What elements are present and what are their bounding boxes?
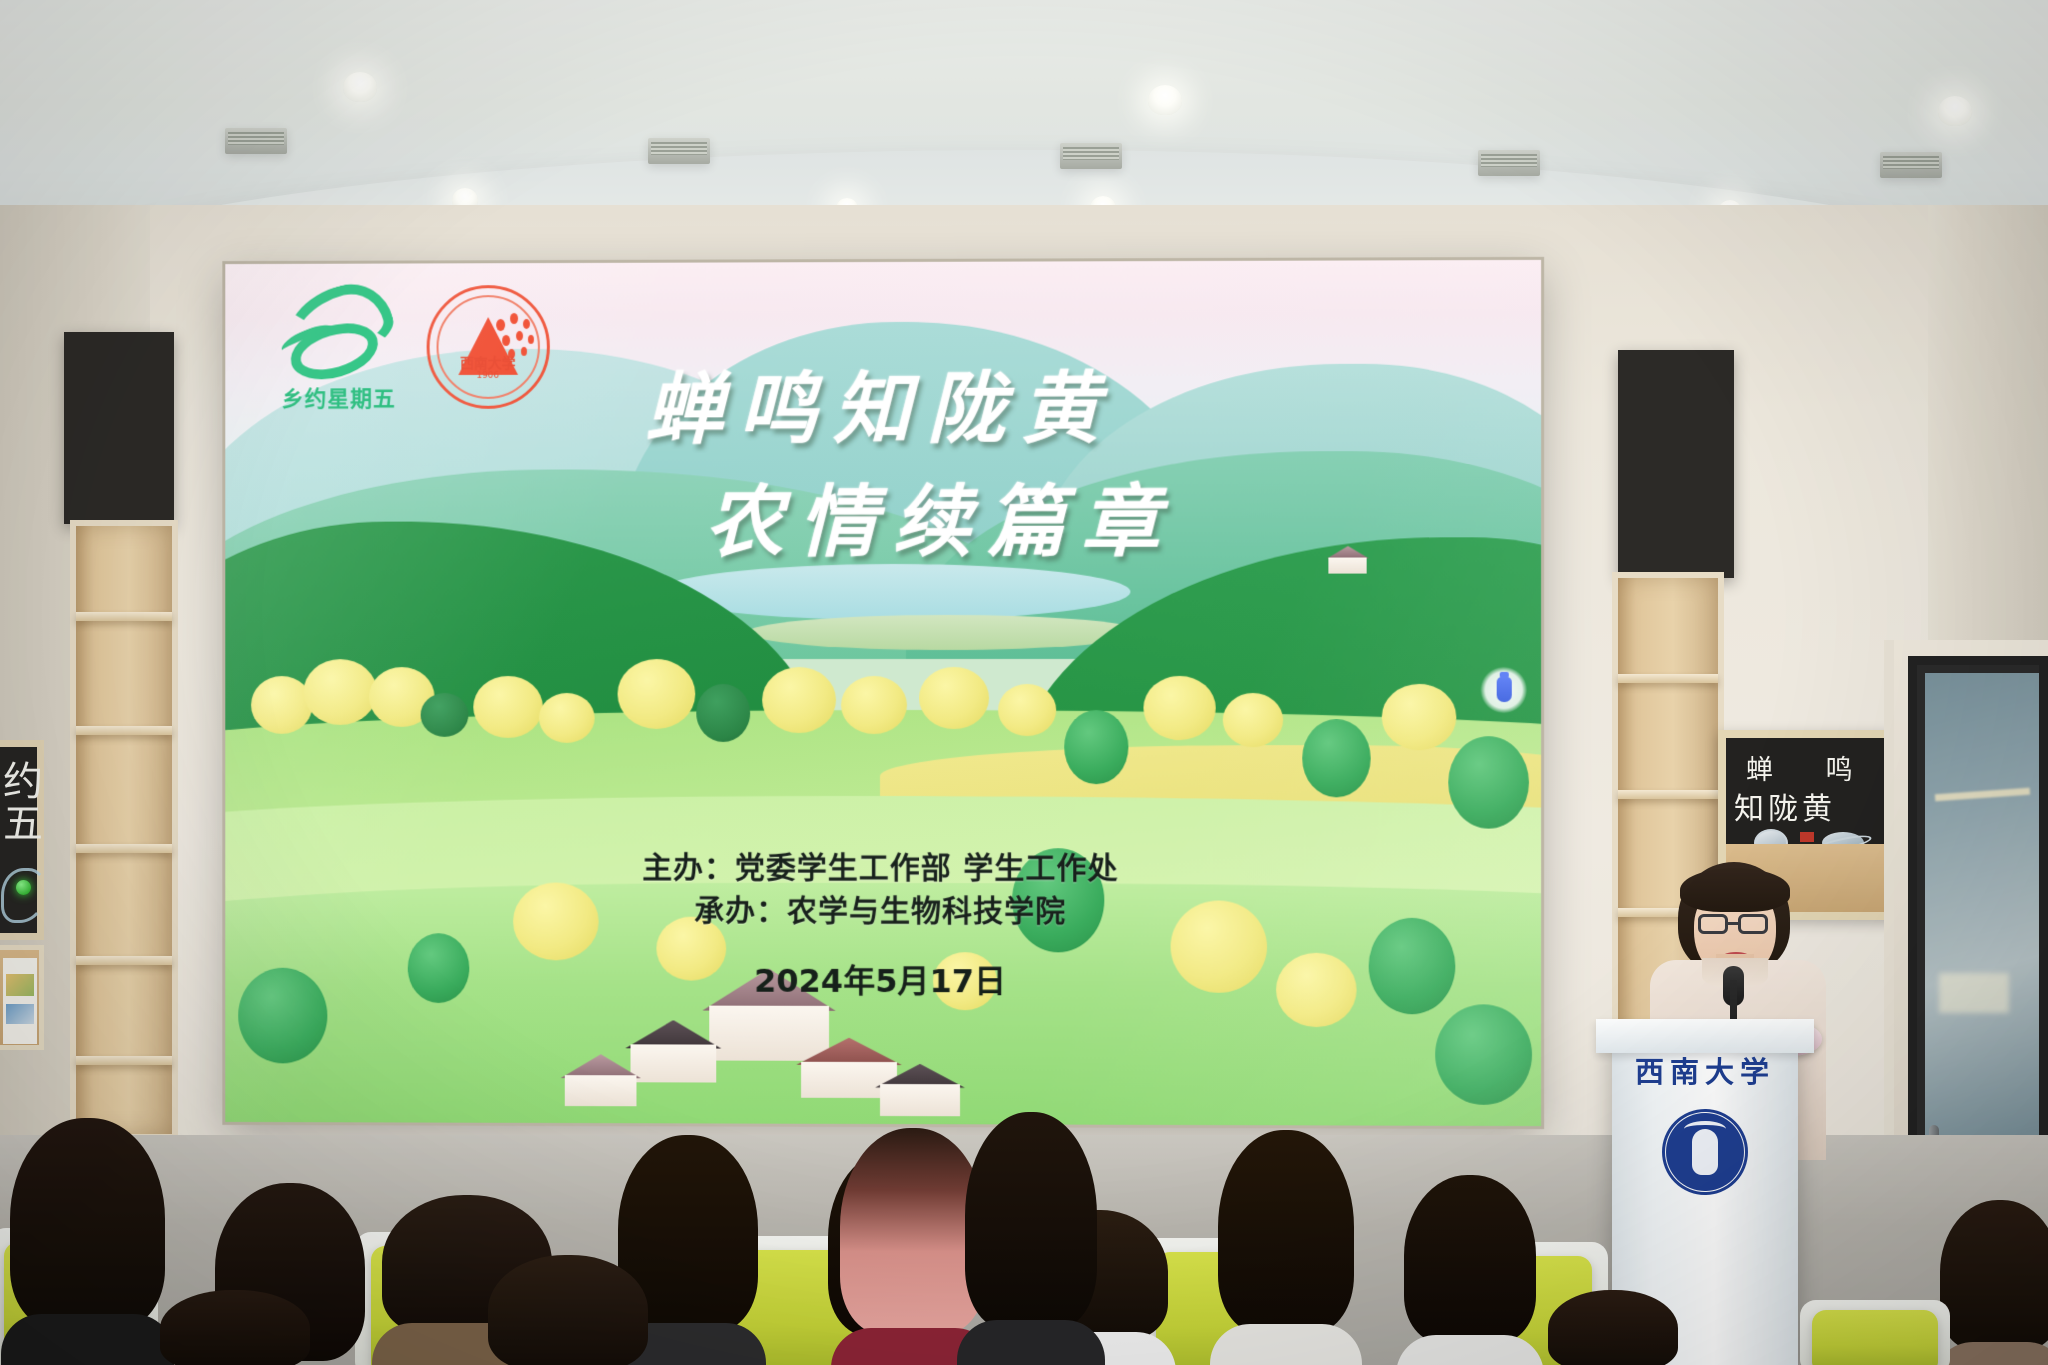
wall	[630, 1045, 716, 1082]
tree	[841, 676, 907, 734]
green-marker-dot	[16, 880, 31, 895]
ac-vent	[225, 128, 287, 154]
tree	[617, 659, 695, 729]
audience-member	[1404, 1175, 1536, 1365]
ceiling-downlight	[343, 72, 377, 102]
person-hair	[160, 1290, 310, 1365]
person-hair	[965, 1112, 1097, 1328]
audience-member	[1940, 1200, 2048, 1365]
person-torso	[1, 1314, 175, 1365]
tree	[1435, 1005, 1532, 1106]
seed-dot	[510, 313, 518, 324]
tree	[696, 684, 750, 742]
tree	[473, 676, 543, 738]
person-hair	[10, 1118, 165, 1328]
seed-dot	[523, 319, 530, 329]
southwest-university-crest-icon	[1666, 1113, 1744, 1191]
blackboard-line-2: 知陇黄	[1734, 784, 1836, 828]
audience-member	[160, 1290, 310, 1365]
chair	[1800, 1300, 1950, 1365]
chalk-swirl-drawing	[1, 868, 47, 923]
shelf	[76, 1056, 172, 1065]
person-hair	[1218, 1130, 1354, 1332]
audience-member	[10, 1118, 165, 1365]
right-speaker-panel	[1618, 350, 1734, 578]
person-torso	[957, 1320, 1105, 1365]
farmhouse	[630, 1020, 716, 1082]
slide-date: 2024年5月17日	[225, 955, 1541, 1004]
shelf	[76, 844, 172, 853]
poster-photo	[6, 974, 34, 996]
person-hair	[488, 1255, 648, 1365]
slide-title-line-1: 蝉鸣知陇黄	[225, 351, 1541, 467]
person-torso	[1933, 1342, 2048, 1365]
shelf	[76, 726, 172, 735]
seed-dot	[496, 319, 505, 331]
blackboard-line-1: 蝉 鸣	[1746, 748, 1875, 787]
audience-member	[1548, 1290, 1678, 1365]
chalkboard-surface: 蝉 鸣 知陇黄	[1726, 738, 1906, 860]
farmhouse	[880, 1064, 960, 1116]
audience-member	[965, 1112, 1097, 1365]
tree	[304, 659, 377, 725]
farmhouse	[565, 1054, 637, 1106]
left-chalkboard-text: 约五	[3, 761, 43, 845]
chair-seatback	[1812, 1310, 1938, 1365]
projection-screen: 乡约星期五 西南大学 1906 蝉鸣知陇黄 农情续篇章	[225, 260, 1541, 1126]
slide-organizer: 主办：党委学生工作部 学生工作处	[225, 847, 1541, 891]
usb-device-icon[interactable]	[1481, 667, 1527, 713]
poster-sheet	[3, 958, 37, 1044]
poster-photo	[6, 1004, 34, 1024]
person-torso	[1210, 1324, 1362, 1365]
ceiling-downlight	[1938, 96, 1972, 126]
lecture-room-photo: 约五 蝉 鸣 知陇黄	[0, 0, 2048, 1365]
glass-reflection	[1935, 788, 2030, 802]
ac-vent	[1880, 152, 1942, 178]
ac-vent	[1060, 143, 1122, 169]
person-torso	[1396, 1335, 1544, 1365]
ac-vent	[1478, 150, 1540, 176]
shelf	[76, 612, 172, 621]
left-cork-board	[0, 945, 44, 1050]
tree	[1144, 676, 1216, 740]
podium-top-surface	[1596, 1019, 1814, 1053]
left-bookcase	[70, 520, 178, 1140]
shelf	[1618, 674, 1718, 683]
paddy-field	[749, 615, 1144, 650]
ac-vent	[648, 138, 710, 164]
person-hair	[1940, 1200, 2048, 1350]
tree	[1448, 736, 1529, 828]
seed-dot	[502, 335, 510, 346]
speaker-hair-front	[1680, 868, 1790, 912]
wall	[565, 1075, 637, 1106]
shelf	[1618, 790, 1718, 799]
tree	[1223, 693, 1283, 747]
shelf	[76, 956, 172, 965]
tree	[1302, 719, 1370, 797]
left-speaker-panel	[64, 332, 174, 524]
glasses-icon	[1698, 914, 1728, 934]
audience-member	[1218, 1130, 1354, 1365]
slide-co-organizer: 承办：农学与生物科技学院	[225, 890, 1541, 935]
wall	[880, 1084, 960, 1115]
flag-chalk-icon	[1800, 832, 1814, 842]
slide-title-line-2: 农情续篇章	[225, 464, 1541, 579]
person-hair	[1404, 1175, 1536, 1343]
glasses-bridge	[1728, 922, 1740, 925]
tree	[762, 667, 836, 733]
tree	[1064, 710, 1128, 784]
ceiling-downlight	[1148, 85, 1182, 115]
tree	[1382, 684, 1457, 750]
glass-reflection	[1939, 973, 2009, 1013]
crest-arc	[1684, 1121, 1726, 1137]
seed-dot	[528, 335, 534, 344]
podium-university-name: 西南大学	[1612, 1049, 1798, 1091]
glasses-icon	[1738, 914, 1768, 934]
slide-organizer-block: 主办：党委学生工作部 学生工作处 承办：农学与生物科技学院	[225, 847, 1541, 934]
person-hair	[1548, 1290, 1678, 1365]
slide-title-block: 蝉鸣知陇黄 农情续篇章	[225, 351, 1541, 579]
audience-member	[488, 1255, 648, 1365]
left-chalkboard: 约五	[0, 740, 44, 940]
seed-dot	[516, 331, 523, 341]
tree	[539, 693, 595, 743]
